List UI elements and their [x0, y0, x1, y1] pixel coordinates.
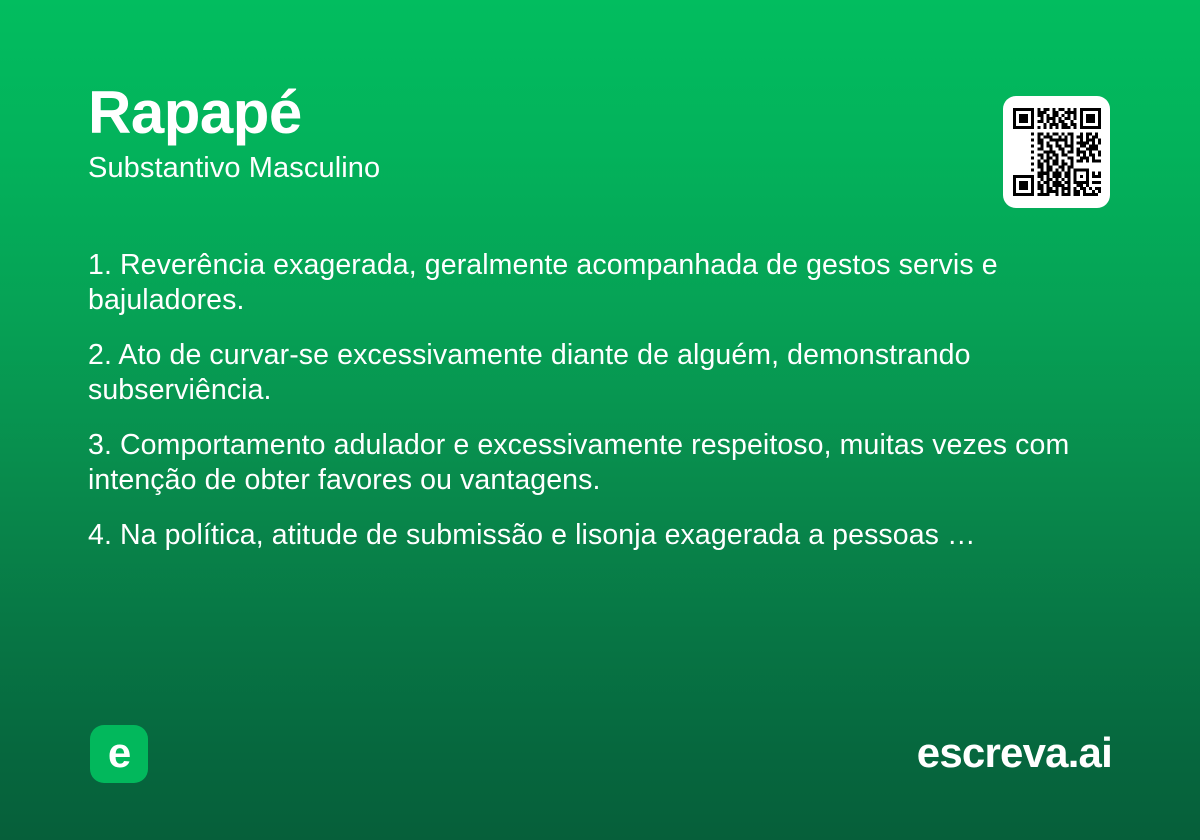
word-class-label: Substantivo Masculino: [88, 151, 948, 186]
brand-logo-letter: e: [108, 732, 130, 774]
definitions-list: 1. Reverência exagerada, geralmente acom…: [88, 248, 1088, 553]
card-header: Rapapé Substantivo Masculino: [88, 82, 948, 186]
page-title: Rapapé: [88, 82, 948, 143]
card-footer: e escreva.ai: [0, 725, 1200, 785]
list-item: 2. Ato de curvar-se excessivamente diant…: [88, 338, 1088, 408]
qr-code-panel[interactable]: [1003, 96, 1110, 208]
list-item: 4. Na política, atitude de submissão e l…: [88, 518, 1088, 553]
list-item: 3. Comportamento adulador e excessivamen…: [88, 428, 1088, 498]
list-item: 1. Reverência exagerada, geralmente acom…: [88, 248, 1088, 318]
brand-logo[interactable]: e: [90, 725, 148, 783]
word-definition-card: Rapapé Substantivo Masculino: [0, 0, 1200, 840]
brand-wordmark[interactable]: escreva.ai: [917, 727, 1112, 780]
qr-code-icon: [1013, 108, 1101, 196]
